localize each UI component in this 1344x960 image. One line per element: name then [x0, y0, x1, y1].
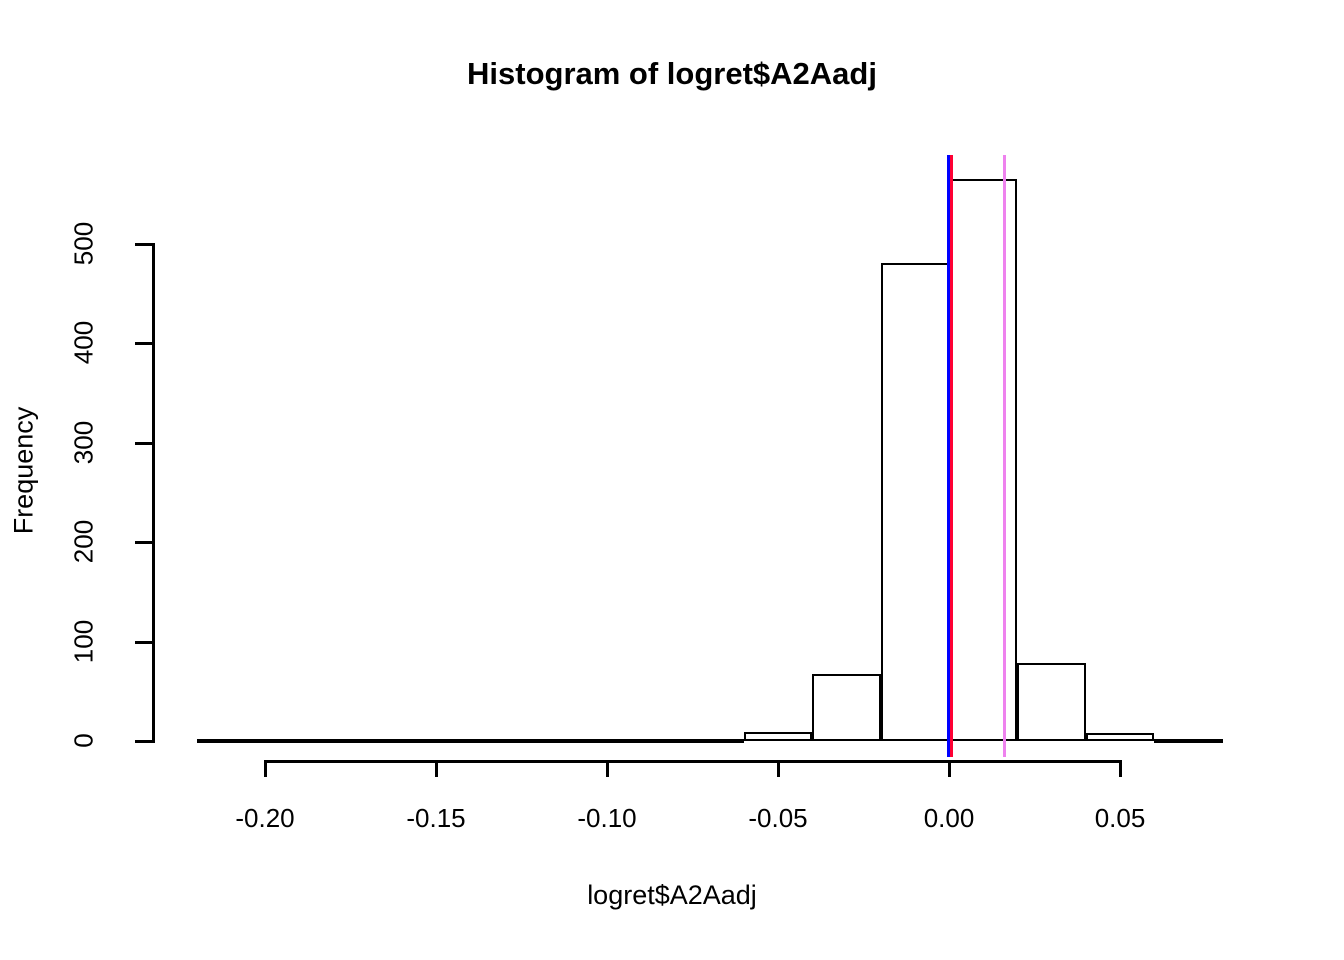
x-axis-tick: [435, 760, 438, 777]
y-axis-tick-label: 500: [69, 204, 100, 284]
histogram-bar: [812, 674, 880, 741]
x-axis-tick: [264, 760, 267, 777]
histogram-bar: [881, 263, 949, 741]
y-axis-tick-label: 0: [69, 701, 100, 781]
x-axis-tick-label: -0.20: [200, 803, 330, 834]
histogram-bar: [265, 739, 333, 743]
x-axis-tick-label: -0.15: [371, 803, 501, 834]
histogram-bar: [1017, 663, 1085, 741]
histogram-bar: [402, 739, 470, 743]
y-axis-tick-label: 400: [69, 303, 100, 383]
plot-canvas: 0100200300400500 -0.20-0.15-0.10-0.050.0…: [0, 0, 1344, 960]
x-axis-tick-label: -0.05: [713, 803, 843, 834]
x-axis-tick-label: 0.05: [1055, 803, 1185, 834]
y-axis-tick-label: 200: [69, 502, 100, 582]
y-axis-tick: [135, 442, 152, 445]
y-axis-tick: [135, 641, 152, 644]
histogram-bar: [744, 732, 812, 741]
histogram-bar: [197, 739, 265, 743]
histogram-bar: [539, 739, 607, 743]
x-axis-tick: [1119, 760, 1122, 777]
x-axis-tick: [948, 760, 951, 777]
histogram-bar: [470, 739, 538, 743]
histogram-bar: [675, 739, 743, 743]
histogram-plot: Histogram of logret$A2Aadj Frequency log…: [0, 0, 1344, 960]
y-axis-tick: [135, 342, 152, 345]
x-axis-line: [265, 760, 1121, 763]
x-axis-tick-label: 0.00: [884, 803, 1014, 834]
y-axis-tick-label: 100: [69, 601, 100, 681]
histogram-bar: [1154, 739, 1222, 743]
x-axis-tick: [777, 760, 780, 777]
histogram-bar: [1086, 733, 1154, 741]
y-axis-tick: [135, 541, 152, 544]
red-vertical-line: [950, 155, 953, 757]
x-axis-tick-label: -0.10: [542, 803, 672, 834]
histogram-bar: [333, 739, 401, 743]
y-axis-tick-label: 300: [69, 402, 100, 482]
histogram-bar: [949, 179, 1017, 741]
y-axis-tick: [135, 243, 152, 246]
x-axis-tick: [606, 760, 609, 777]
histogram-bar: [607, 739, 675, 743]
violet-vertical-line: [1003, 155, 1006, 757]
y-axis-tick: [135, 740, 152, 743]
y-axis-line: [152, 243, 155, 743]
